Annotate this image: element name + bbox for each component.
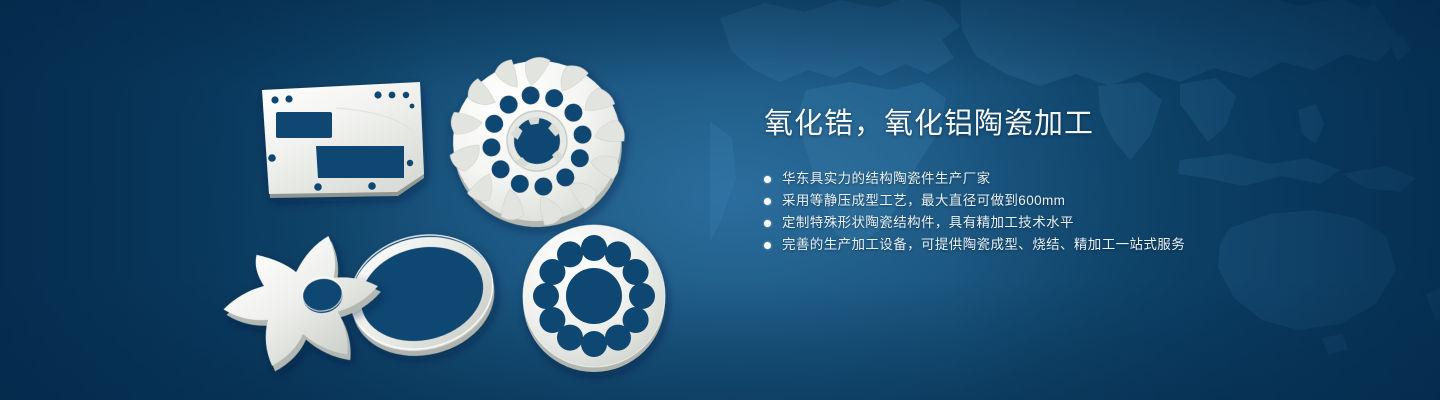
hero-banner: 氧化锆，氧化铝陶瓷加工 华东具实力的结构陶瓷件生产厂家 采用等静压成型工艺，最大… xyxy=(0,0,1440,400)
feature-list: 华东具实力的结构陶瓷件生产厂家 采用等静压成型工艺，最大直径可做到600mm 定… xyxy=(764,168,1384,256)
list-item: 定制特殊形状陶瓷结构件，具有精加工技术水平 xyxy=(764,212,1384,234)
list-item-label: 定制特殊形状陶瓷结构件，具有精加工技术水平 xyxy=(782,212,1074,234)
list-item-label: 完善的生产加工设备，可提供陶瓷成型、烧结、精加工一站式服务 xyxy=(782,234,1185,256)
ceramic-impeller-part xyxy=(438,46,635,239)
ceramic-cross-part xyxy=(214,229,391,381)
list-item: 完善的生产加工设备，可提供陶瓷成型、烧结、精加工一站式服务 xyxy=(764,234,1384,256)
bullet-dot-icon xyxy=(764,176,771,183)
ceramic-plate-part xyxy=(262,82,424,198)
list-item-label: 华东具实力的结构陶瓷件生产厂家 xyxy=(782,168,991,190)
bullet-dot-icon xyxy=(764,242,771,249)
list-item: 采用等静压成型工艺，最大直径可做到600mm xyxy=(764,190,1384,212)
page-title: 氧化锆，氧化铝陶瓷加工 xyxy=(764,104,1384,144)
bullet-dot-icon xyxy=(764,220,771,227)
banner-text-block: 氧化锆，氧化铝陶瓷加工 华东具实力的结构陶瓷件生产厂家 采用等静压成型工艺，最大… xyxy=(764,104,1384,256)
bullet-dot-icon xyxy=(764,198,771,205)
ceramic-parts-artwork xyxy=(0,0,720,400)
list-item-label: 采用等静压成型工艺，最大直径可做到600mm xyxy=(782,190,1065,212)
list-item: 华东具实力的结构陶瓷件生产厂家 xyxy=(764,168,1384,190)
ceramic-perforated-disc-part xyxy=(523,225,665,372)
